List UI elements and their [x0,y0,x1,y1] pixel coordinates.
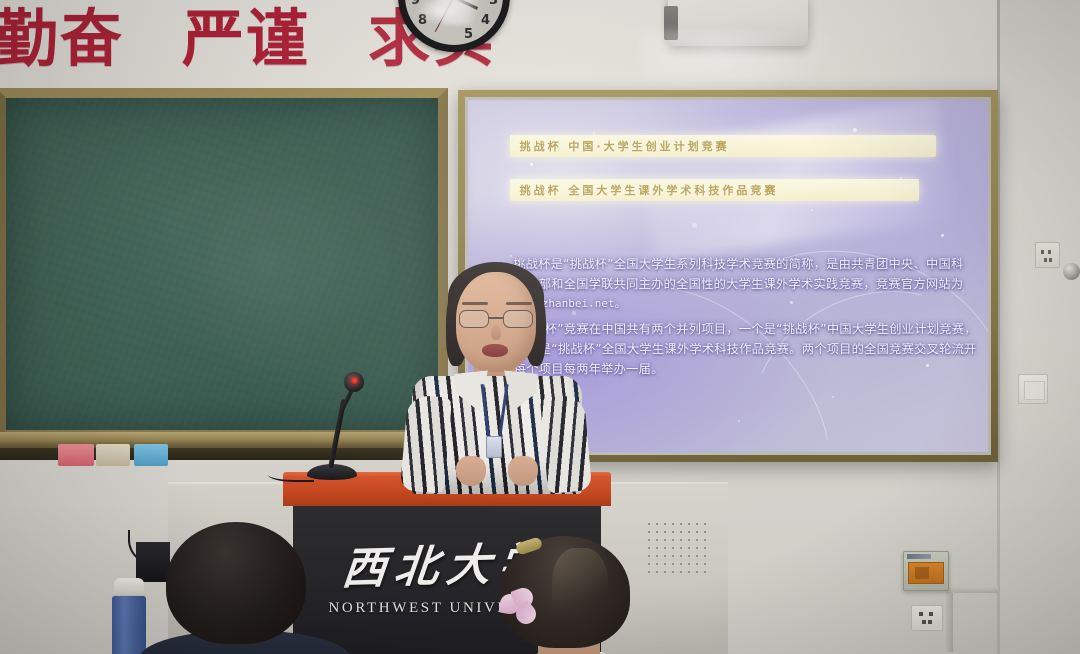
clock-glare-secondary [417,0,461,25]
chalk-box-blue [134,444,168,466]
control-box-label [907,554,931,559]
presenter-id-badge [486,436,502,458]
presenter-arm-left [400,394,452,493]
motto-word-1: 勤奋 [0,8,124,70]
classroom-scene: 勤奋 严谨 求实 3 4 5 8 9 [0,0,1080,654]
presenter-hand-right [508,456,538,486]
student-front-left [158,522,320,654]
chalk-box-pink [58,444,94,466]
light-switch[interactable] [1018,374,1048,404]
glasses-lens-left [459,310,489,328]
clock-numeral-5: 5 [464,27,473,42]
presenter-eyebrow-right [506,302,532,305]
slide-title-2: 挑战杯 全国大学生课外学术科技作品竞赛 [510,179,919,201]
door-knob[interactable] [1063,263,1080,280]
presenter [398,264,594,490]
motto-word-2: 严谨 [182,8,310,70]
presenter-eyebrow-left [462,302,488,305]
clock-numeral-4: 4 [481,13,490,28]
slide-title-plates: 挑战杯 中国·大学生创业计划竞赛 挑战杯 全国大学生课外学术科技作品竞赛 [510,135,936,201]
flower-hair-accessory [500,588,540,626]
slide-title-1: 挑战杯 中国·大学生创业计划竞赛 [510,135,936,157]
thermos-bottle [112,596,146,654]
power-outlet-lower[interactable] [911,605,943,631]
chalk-box-beige [96,444,130,466]
control-box-window [908,562,944,584]
right-wall-panel [1000,0,1080,654]
classroom-motto: 勤奋 严谨 求实 [0,0,612,82]
presenter-hand-left [456,456,486,486]
power-socket-upper[interactable] [1035,242,1060,268]
speaker-grille [645,520,711,578]
wall-conduit-horizontal [946,586,998,593]
chalkboard-smudge [136,148,395,380]
student-right-hair-highlight [552,548,608,634]
student-front-right [494,536,640,654]
presenter-arm-right [540,394,592,493]
glasses-lens-right [503,310,533,328]
glasses-bridge [489,317,503,319]
presenter-mouth [482,344,508,357]
presenter-nose [491,326,501,340]
green-chalkboard [0,88,448,440]
microphone-status-led [351,377,358,384]
electrical-control-box[interactable] [903,551,949,591]
clock-numeral-3: 3 [489,0,498,8]
wall-conduit-vertical [946,586,953,652]
student-left-head [166,522,306,644]
